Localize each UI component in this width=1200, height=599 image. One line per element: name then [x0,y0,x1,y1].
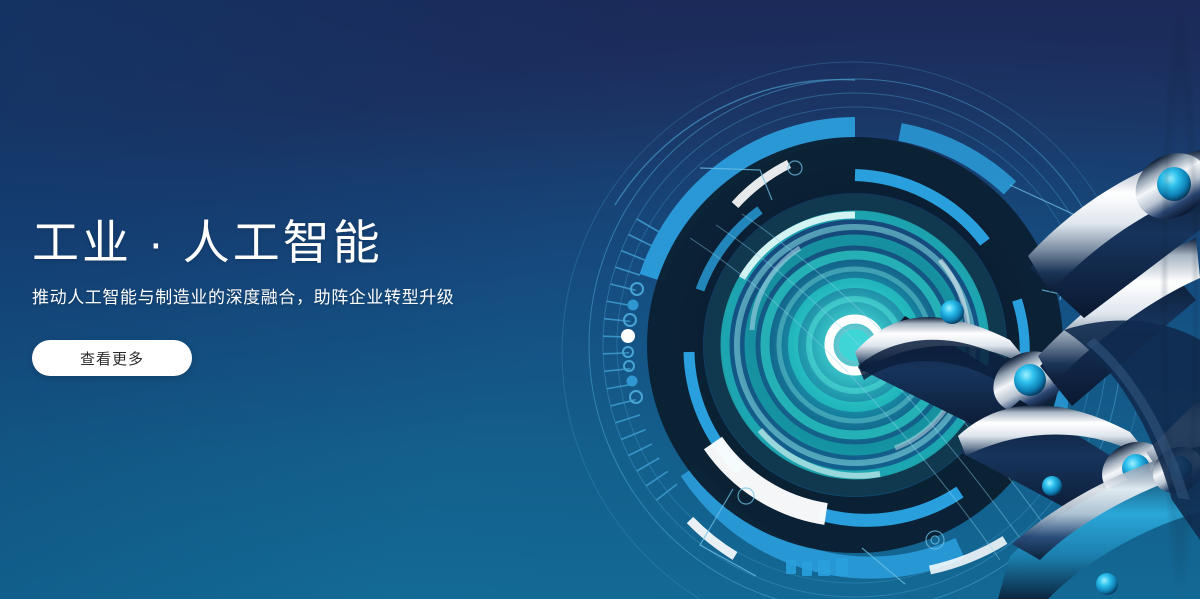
hero-banner: 工业 · 人工智能 推动人工智能与制造业的深度融合，助阵企业转型升级 查看更多 [0,0,1200,599]
hero-subtitle: 推动人工智能与制造业的深度融合，助阵企业转型升级 [32,286,652,310]
view-more-button[interactable]: 查看更多 [32,340,192,376]
hero-copy: 工业 · 人工智能 推动人工智能与制造业的深度融合，助阵企业转型升级 查看更多 [32,214,652,376]
page-title: 工业 · 人工智能 [32,214,652,272]
